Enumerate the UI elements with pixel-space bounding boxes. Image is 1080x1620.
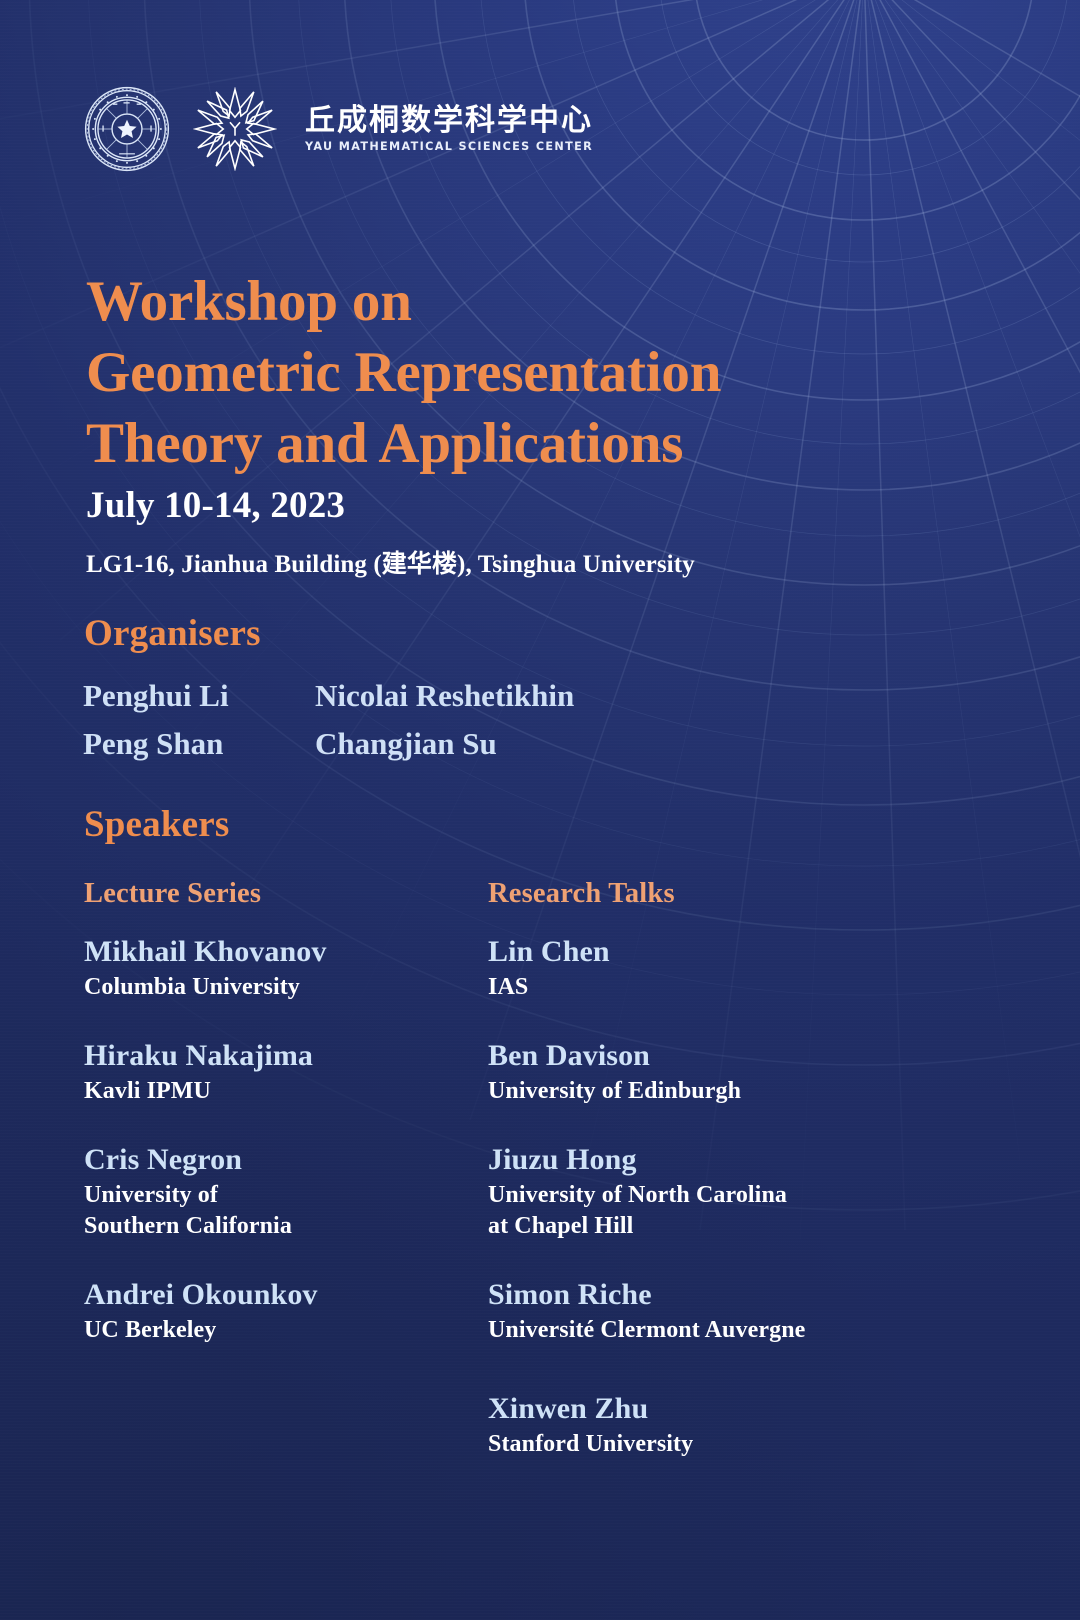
speaker-name: Simon Riche [488,1276,890,1314]
organiser-name: Penghui Li [83,672,315,720]
affiliation-line: Kavli IPMU [84,1076,486,1107]
speakers-column-heading: Research Talks [488,878,890,910]
tsinghua-university-seal-icon [83,85,171,173]
affiliation-line: at Chapel Hill [488,1211,890,1242]
speaker-name: Xinwen Zhu [488,1390,890,1428]
speaker-affiliation: Columbia University [84,972,486,1003]
event-venue: LG1-16, Jianhua Building (建华楼), Tsinghua… [86,544,695,580]
speaker-entry: Lin Chen IAS [488,933,890,1003]
affiliation-line: Southern California [84,1211,486,1242]
speakers-columns: Lecture Series Mikhail Khovanov Columbia… [84,878,984,1494]
speaker-affiliation: Stanford University [488,1429,890,1460]
organisers-list: Penghui Li Nicolai Reshetikhin Peng Shan… [83,672,823,768]
speaker-name: Jiuzu Hong [488,1141,890,1179]
speaker-affiliation: University of Southern California [84,1180,486,1242]
speaker-entry: Simon Riche Université Clermont Auvergne [488,1276,890,1346]
affiliation-line: University of Edinburgh [488,1076,890,1107]
speaker-name: Mikhail Khovanov [84,933,486,971]
poster-title: Workshop on Geometric Representation The… [86,266,886,479]
affiliation-line: University of North Carolina [488,1180,890,1211]
speaker-affiliation: UC Berkeley [84,1315,486,1346]
affiliation-line: University of [84,1180,486,1211]
speakers-column-research-talks: Research Talks Lin Chen IAS Ben Davison … [488,878,890,1494]
logo-row: 丘成桐数学科学中心 YAU MATHEMATICAL SCIENCES CENT… [83,85,593,173]
speaker-affiliation: Kavli IPMU [84,1076,486,1107]
affiliation-line: UC Berkeley [84,1315,486,1346]
speaker-affiliation: University of North Carolina at Chapel H… [488,1180,890,1242]
ymsc-name-en: YAU MATHEMATICAL SCIENCES CENTER [305,141,593,153]
speaker-name: Cris Negron [84,1141,486,1179]
speaker-name: Hiraku Nakajima [84,1037,486,1075]
organiser-name: Nicolai Reshetikhin [315,672,715,720]
affiliation-line: Columbia University [84,972,486,1003]
title-line-3: Theory and Applications [86,408,886,479]
speakers-column-lecture-series: Lecture Series Mikhail Khovanov Columbia… [84,878,486,1494]
ymsc-starburst-icon [193,87,277,171]
speaker-entry: Xinwen Zhu Stanford University [488,1390,890,1460]
speaker-entry: Cris Negron University of Southern Calif… [84,1141,486,1242]
speaker-entry: Hiraku Nakajima Kavli IPMU [84,1037,486,1107]
organiser-row: Penghui Li Nicolai Reshetikhin [83,672,823,720]
organiser-name: Peng Shan [83,720,315,768]
ymsc-name-cn: 丘成桐数学科学中心 [305,104,593,137]
speaker-name: Andrei Okounkov [84,1276,486,1314]
speakers-heading: Speakers [84,803,230,846]
conference-poster: 丘成桐数学科学中心 YAU MATHEMATICAL SCIENCES CENT… [0,0,1080,1620]
ymsc-wordmark: 丘成桐数学科学中心 YAU MATHEMATICAL SCIENCES CENT… [305,104,593,153]
organiser-row: Peng Shan Changjian Su [83,720,823,768]
organisers-heading: Organisers [84,612,261,655]
affiliation-line: IAS [488,972,890,1003]
speaker-entry: Jiuzu Hong University of North Carolina … [488,1141,890,1242]
title-line-1: Workshop on [86,266,886,337]
speaker-entry: Ben Davison University of Edinburgh [488,1037,890,1107]
speaker-name: Lin Chen [488,933,890,971]
speaker-affiliation: University of Edinburgh [488,1076,890,1107]
speaker-affiliation: Université Clermont Auvergne [488,1315,890,1346]
speakers-column-heading: Lecture Series [84,878,486,910]
affiliation-line: Université Clermont Auvergne [488,1315,890,1346]
speaker-entry: Mikhail Khovanov Columbia University [84,933,486,1003]
organiser-name: Changjian Su [315,720,715,768]
event-date: July 10-14, 2023 [86,484,345,527]
title-line-2: Geometric Representation [86,337,886,408]
speaker-entry: Andrei Okounkov UC Berkeley [84,1276,486,1346]
affiliation-line: Stanford University [488,1429,890,1460]
speaker-name: Ben Davison [488,1037,890,1075]
speaker-affiliation: IAS [488,972,890,1003]
